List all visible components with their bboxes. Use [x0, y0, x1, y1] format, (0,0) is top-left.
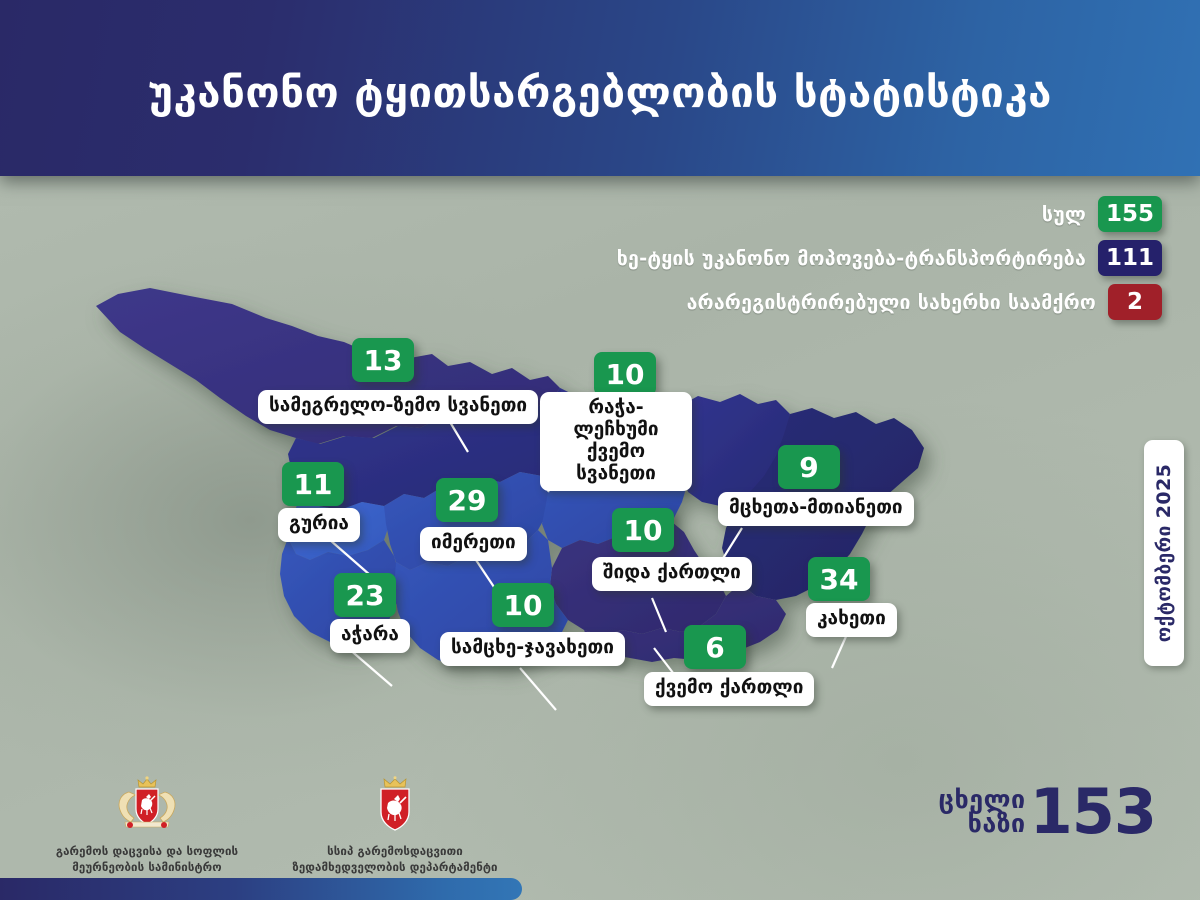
callout-label-samegrelo: სამეგრელო-ზემო სვანეთი	[258, 390, 538, 424]
environmental-supervision-emblem-icon	[369, 776, 421, 838]
legend-row-illegal-logging: ხე-ტყის უკანონო მოპოვება-ტრანსპორტირება …	[617, 240, 1162, 276]
date-tab-label: ოქტომბერი 2025	[1153, 464, 1175, 642]
callout-badge-kvemo-kartli: 6	[684, 625, 746, 669]
callout-label-adjara: აჭარა	[330, 619, 410, 653]
callout-badge-racha: 10	[594, 352, 656, 396]
callout-label-samtskhe: სამცხე-ჯავახეთი	[440, 632, 625, 666]
hotline-number: 153	[1030, 787, 1156, 838]
hotline: ცხელი ხაზი 153	[939, 787, 1157, 838]
callout-label-shida-kartli: შიდა ქართლი	[592, 557, 752, 591]
callout-label-guria: გურია	[278, 508, 360, 542]
legend-row-total: სულ 155	[1042, 196, 1162, 232]
legend-row-unregistered-sawmill: არარეგისტრირებული სახერხი საამქრო 2	[687, 284, 1162, 320]
legend-label-total: სულ	[1042, 203, 1086, 226]
callout-badge-kakheti: 34	[808, 557, 870, 601]
callout-label-kakheti: კახეთი	[806, 603, 897, 637]
callout-badge-guria: 11	[282, 462, 344, 506]
callout-label-mtskheta: მცხეთა-მთიანეთი	[718, 492, 914, 526]
legend-badge-unregistered-sawmill: 2	[1108, 284, 1162, 320]
callout-badge-mtskheta: 9	[778, 445, 840, 489]
callout-badge-shida-kartli: 10	[612, 508, 674, 552]
legend-badge-total: 155	[1098, 196, 1162, 232]
logo-block-department: სსიპ გარემოსდაცვითი ზედამხედველობის დეპა…	[290, 776, 500, 875]
logo-caption-department: სსიპ გარემოსდაცვითი ზედამხედველობის დეპა…	[292, 844, 497, 875]
legend-badge-illegal-logging: 111	[1098, 240, 1162, 276]
date-tab: ოქტომბერი 2025	[1144, 440, 1184, 666]
header-banner: უკანონო ტყითსარგებლობის სტატისტიკა	[0, 0, 1200, 176]
footer-logos: გარემოს დაცვისა და სოფლის მეურნეობის სამ…	[0, 770, 600, 880]
page-title: უკანონო ტყითსარგებლობის სტატისტიკა	[148, 62, 1052, 114]
legend-label-unregistered-sawmill: არარეგისტრირებული სახერხი საამქრო	[687, 291, 1096, 314]
legend-label-illegal-logging: ხე-ტყის უკანონო მოპოვება-ტრანსპორტირება	[617, 247, 1086, 270]
logo-block-ministry: გარემოს დაცვისა და სოფლის მეურნეობის სამ…	[52, 776, 242, 875]
callout-label-imereti: იმერეთი	[420, 527, 527, 561]
legend: სულ 155 ხე-ტყის უკანონო მოპოვება-ტრანსპო…	[617, 196, 1162, 320]
logo-caption-ministry: გარემოს დაცვისა და სოფლის მეურნეობის სამ…	[56, 844, 238, 875]
callout-label-racha: რაჭა-ლეჩხუმი ქვემო სვანეთი	[540, 392, 692, 491]
callout-badge-samegrelo: 13	[352, 338, 414, 382]
callout-label-kvemo-kartli: ქვემო ქართლი	[644, 672, 814, 706]
hotline-words: ცხელი ხაზი	[939, 788, 1026, 836]
callout-badge-samtskhe: 10	[492, 583, 554, 627]
hotline-word-bottom: ხაზი	[939, 812, 1026, 836]
infographic-page: უკანონო ტყითსარგებლობის სტატისტიკა სულ 1…	[0, 0, 1200, 900]
bottom-accent-bar	[0, 878, 522, 900]
georgia-coat-of-arms-icon	[105, 776, 189, 838]
callout-badge-adjara: 23	[334, 573, 396, 617]
callout-badge-imereti: 29	[436, 478, 498, 522]
